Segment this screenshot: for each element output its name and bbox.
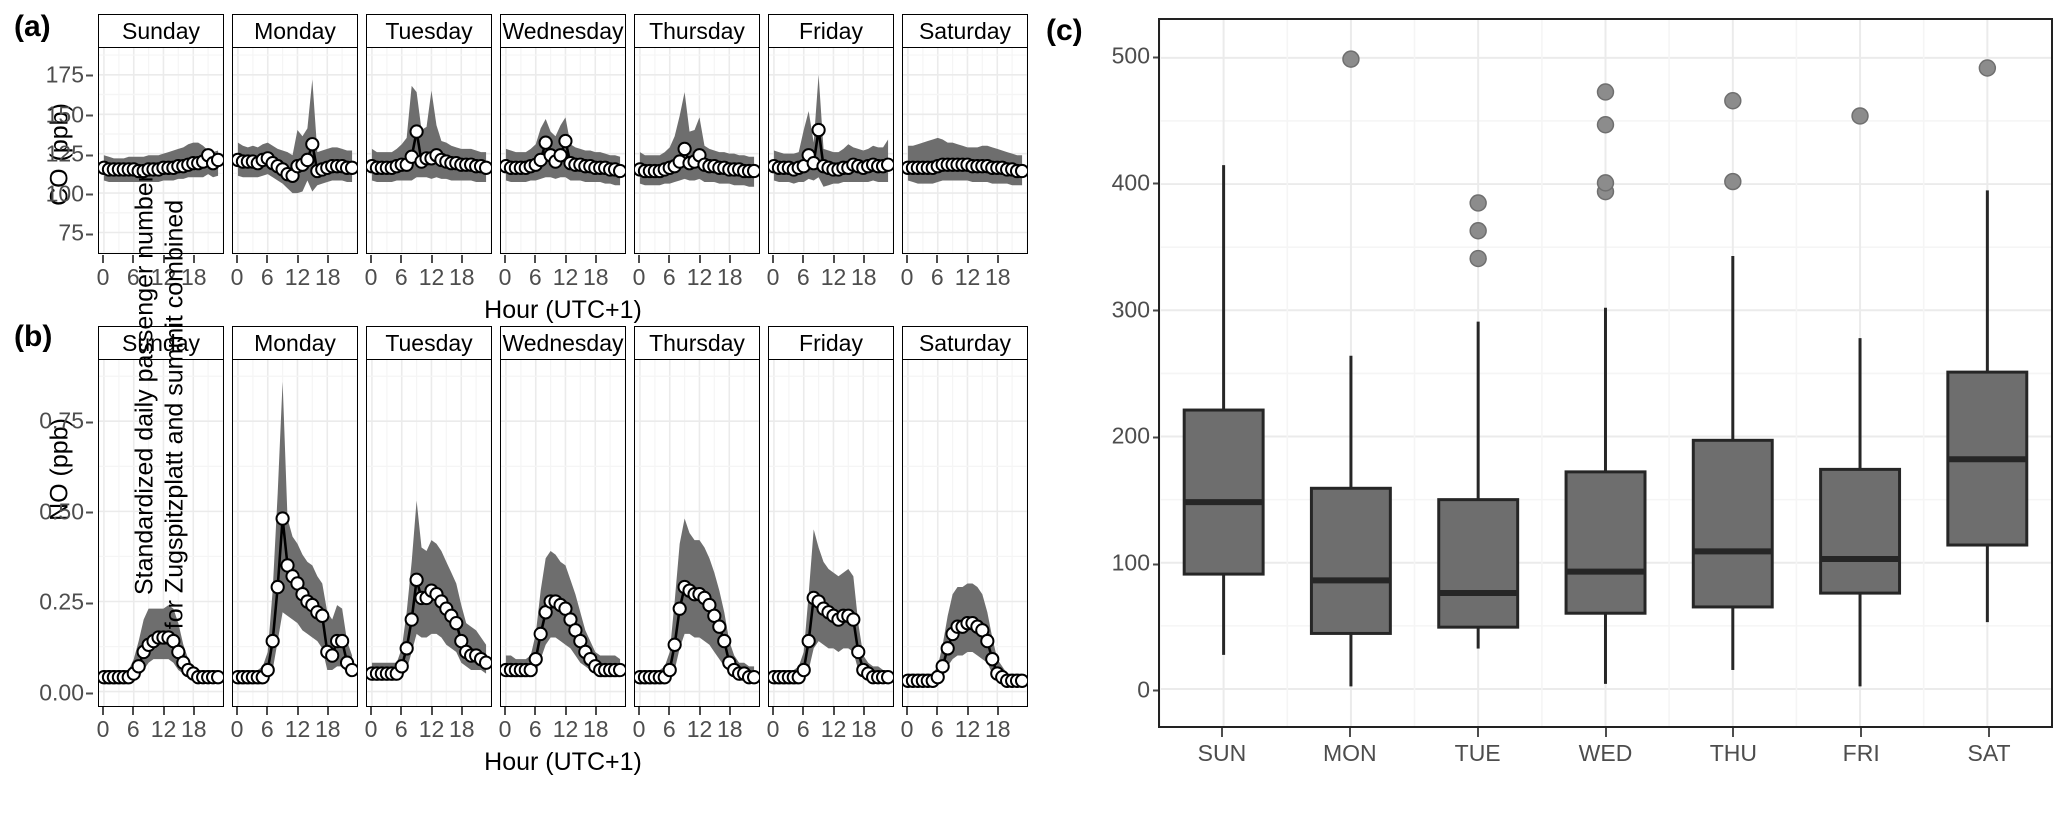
y-tick-label: 0 <box>1137 676 1150 703</box>
panel-c-x-axis: SUNMONTUEWEDTHUFRISAT <box>1158 728 2053 778</box>
facet-tuesday: Tuesday <box>366 326 492 707</box>
x-tick-label: 0 <box>97 264 110 291</box>
x-tick-label: 18 <box>851 264 877 291</box>
x-tick-mark <box>565 255 567 263</box>
x-tick-mark <box>936 707 938 715</box>
x-tick-label: 6 <box>395 716 408 743</box>
x-tick-label: 6 <box>261 716 274 743</box>
facet-strip-label: Monday <box>232 326 358 360</box>
facet-strip-label: Friday <box>768 14 894 48</box>
x-tick-label: 0 <box>901 264 914 291</box>
x-tick-label: 18 <box>315 716 341 743</box>
x-tick-label: 18 <box>985 264 1011 291</box>
y-tick-label: 0.25 <box>39 589 84 616</box>
x-tick-label: 6 <box>395 264 408 291</box>
x-tick-label-mon: MON <box>1323 740 1377 767</box>
x-tick-mark <box>102 255 104 263</box>
x-tick-label: 6 <box>529 716 542 743</box>
x-tick-mark <box>266 707 268 715</box>
x-tick-label-wed: WED <box>1579 740 1633 767</box>
x-tick-label: 0 <box>97 716 110 743</box>
x-tick-label: 12 <box>553 264 579 291</box>
x-tick-mark <box>504 255 506 263</box>
x-tick-mark <box>772 707 774 715</box>
x-tick-label: 0 <box>365 264 378 291</box>
facet-wednesday: Wednesday <box>500 14 626 254</box>
x-tick-label-sun: SUN <box>1198 740 1247 767</box>
facet-plot-area <box>768 48 894 254</box>
x-tick-mark <box>638 707 640 715</box>
x-tick-mark <box>1860 728 1862 737</box>
facet-monday: Monday <box>232 326 358 707</box>
x-tick-mark <box>461 255 463 263</box>
facet-plot-area <box>232 48 358 254</box>
x-tick-mark <box>431 707 433 715</box>
x-tick-mark <box>400 707 402 715</box>
x-tick-mark <box>595 255 597 263</box>
x-tick-label-fri: FRI <box>1843 740 1880 767</box>
x-tick-label: 12 <box>955 716 981 743</box>
x-tick-mark <box>802 707 804 715</box>
x-tick-label: 0 <box>365 716 378 743</box>
x-tick-label: 6 <box>931 716 944 743</box>
x-tick-mark <box>638 255 640 263</box>
x-tick-mark <box>906 255 908 263</box>
facet-strip-label: Wednesday <box>500 326 626 360</box>
x-tick-label: 18 <box>449 716 475 743</box>
x-tick-label: 0 <box>767 716 780 743</box>
panel-c-y-axis-label-line1: Standardized daily passenger number <box>131 65 160 705</box>
x-tick-mark <box>699 255 701 263</box>
facet-plot-area <box>768 360 894 707</box>
x-tick-label: 0 <box>633 716 646 743</box>
x-tick-label: 12 <box>821 716 847 743</box>
x-tick-mark <box>236 255 238 263</box>
x-tick-label: 12 <box>285 716 311 743</box>
x-tick-label: 0 <box>767 264 780 291</box>
facet-plot-area <box>232 360 358 707</box>
x-tick-mark <box>906 707 908 715</box>
x-tick-label-thu: THU <box>1710 740 1757 767</box>
x-tick-label: 6 <box>127 716 140 743</box>
x-tick-label: 18 <box>583 264 609 291</box>
facet-saturday: Saturday <box>902 326 1028 707</box>
x-tick-mark <box>327 255 329 263</box>
x-tick-mark <box>370 255 372 263</box>
x-tick-label: 0 <box>499 264 512 291</box>
x-tick-label: 12 <box>419 716 445 743</box>
x-tick-mark <box>236 707 238 715</box>
x-tick-mark <box>668 707 670 715</box>
facet-plot-area <box>500 48 626 254</box>
x-tick-label: 6 <box>663 264 676 291</box>
facet-strip-label: Friday <box>768 326 894 360</box>
x-tick-mark <box>102 707 104 715</box>
x-tick-mark <box>699 707 701 715</box>
x-tick-mark <box>936 255 938 263</box>
facet-thursday: Thursday <box>634 14 760 254</box>
x-tick-mark <box>1732 728 1734 737</box>
x-tick-label: 18 <box>449 264 475 291</box>
x-tick-mark <box>863 255 865 263</box>
facet-saturday: Saturday <box>902 14 1028 254</box>
facet-strip-label: Saturday <box>902 14 1028 48</box>
facet-strip-label: Monday <box>232 14 358 48</box>
y-tick-label: 400 <box>1112 169 1150 196</box>
x-tick-mark <box>967 707 969 715</box>
x-tick-label: 18 <box>315 264 341 291</box>
x-tick-mark <box>1605 728 1607 737</box>
x-tick-mark <box>1988 728 1990 737</box>
facet-strip-label: Thursday <box>634 326 760 360</box>
x-tick-mark <box>833 255 835 263</box>
x-tick-label: 18 <box>985 716 1011 743</box>
x-tick-label: 6 <box>797 716 810 743</box>
facet-thursday: Thursday <box>634 326 760 707</box>
x-tick-mark <box>431 255 433 263</box>
x-tick-label: 12 <box>419 264 445 291</box>
x-tick-label: 0 <box>499 716 512 743</box>
x-tick-label-tue: TUE <box>1455 740 1501 767</box>
panel-a-x-axis: 0612180612180612180612180612180612180612… <box>98 255 1028 301</box>
facet-plot-area <box>366 48 492 254</box>
x-tick-mark <box>863 707 865 715</box>
x-tick-mark <box>327 707 329 715</box>
x-tick-mark <box>997 255 999 263</box>
x-tick-label: 18 <box>583 716 609 743</box>
figure-root: (a) CO (ppb) 75100125150175 SundayMonday… <box>0 0 2067 831</box>
facet-plot-area <box>902 48 1028 254</box>
x-tick-mark <box>297 255 299 263</box>
x-tick-label: 6 <box>663 716 676 743</box>
facet-friday: Friday <box>768 326 894 707</box>
facet-strip-label: Tuesday <box>366 326 492 360</box>
y-tick-label: 150 <box>46 101 84 128</box>
facet-plot-area <box>500 360 626 707</box>
x-tick-label: 12 <box>687 716 713 743</box>
x-tick-mark <box>772 255 774 263</box>
panel-b-tag: (b) <box>14 320 52 354</box>
facet-strip-label: Tuesday <box>366 14 492 48</box>
x-tick-label: 12 <box>821 264 847 291</box>
panel-a-tag: (a) <box>14 10 51 44</box>
facet-tuesday: Tuesday <box>366 14 492 254</box>
x-tick-mark <box>400 255 402 263</box>
x-tick-mark <box>802 255 804 263</box>
x-tick-label: 0 <box>901 716 914 743</box>
y-tick-label: 100 <box>46 180 84 207</box>
x-tick-label: 0 <box>231 264 244 291</box>
y-tick-label: 175 <box>46 61 84 88</box>
facet-strip-label: Saturday <box>902 326 1028 360</box>
facet-plot-area <box>902 360 1028 707</box>
y-tick-label: 100 <box>1112 550 1150 577</box>
x-tick-label: 0 <box>231 716 244 743</box>
x-tick-label: 18 <box>717 264 743 291</box>
x-tick-label: 18 <box>717 716 743 743</box>
y-tick-label: 0.50 <box>39 498 84 525</box>
panel-a-x-axis-label: Hour (UTC+1) <box>98 296 1028 325</box>
x-tick-mark <box>565 707 567 715</box>
x-tick-mark <box>967 255 969 263</box>
x-tick-mark <box>997 707 999 715</box>
facet-strip-label: Thursday <box>634 14 760 48</box>
panel-a-facet-row: SundayMondayTuesdayWednesdayThursdayFrid… <box>98 14 1036 254</box>
y-tick-label: 200 <box>1112 423 1150 450</box>
x-tick-mark <box>1349 728 1351 737</box>
x-tick-mark <box>534 255 536 263</box>
x-tick-mark <box>193 255 195 263</box>
y-tick-label: 0.75 <box>39 408 84 435</box>
facet-plot-area <box>634 48 760 254</box>
y-tick-label: 300 <box>1112 296 1150 323</box>
x-tick-label: 12 <box>955 264 981 291</box>
x-tick-label: 6 <box>529 264 542 291</box>
facet-wednesday: Wednesday <box>500 326 626 707</box>
panel-b-x-axis-label: Hour (UTC+1) <box>98 748 1028 777</box>
x-tick-mark <box>1477 728 1479 737</box>
panel-c-plot-area <box>1158 18 2053 728</box>
x-tick-mark <box>534 707 536 715</box>
x-tick-mark <box>729 255 731 263</box>
x-tick-label: 12 <box>285 264 311 291</box>
x-tick-label: 18 <box>851 716 877 743</box>
panel-c-tag: (c) <box>1046 14 1083 48</box>
x-tick-label-sat: SAT <box>1968 740 2011 767</box>
panel-b-x-axis: 0612180612180612180612180612180612180612… <box>98 707 1028 753</box>
facet-friday: Friday <box>768 14 894 254</box>
x-tick-mark <box>370 707 372 715</box>
x-tick-label: 12 <box>687 264 713 291</box>
facet-plot-area <box>366 360 492 707</box>
x-tick-label: 0 <box>633 264 646 291</box>
x-tick-mark <box>266 255 268 263</box>
x-tick-mark <box>132 707 134 715</box>
x-tick-mark <box>833 707 835 715</box>
x-tick-mark <box>595 707 597 715</box>
y-tick-label: 75 <box>58 220 84 247</box>
x-tick-mark <box>504 707 506 715</box>
x-tick-mark <box>668 255 670 263</box>
x-tick-label: 6 <box>261 264 274 291</box>
x-tick-mark <box>461 707 463 715</box>
facet-strip-label: Sunday <box>98 14 224 48</box>
y-tick-label: 0.00 <box>39 679 84 706</box>
x-tick-mark <box>729 707 731 715</box>
y-tick-label: 125 <box>46 141 84 168</box>
x-tick-label: 12 <box>553 716 579 743</box>
x-tick-label: 6 <box>797 264 810 291</box>
facet-strip-label: Wednesday <box>500 14 626 48</box>
x-tick-mark <box>193 707 195 715</box>
x-tick-mark <box>1221 728 1223 737</box>
facet-monday: Monday <box>232 14 358 254</box>
panel-b-facet-row: SundayMondayTuesdayWednesdayThursdayFrid… <box>98 326 1036 707</box>
facet-plot-area <box>634 360 760 707</box>
x-tick-mark <box>297 707 299 715</box>
panel-c-y-axis-label-line2: for Zugspitzplatt and summit combined <box>161 95 190 735</box>
x-tick-label: 6 <box>931 264 944 291</box>
y-tick-label: 500 <box>1112 43 1150 70</box>
